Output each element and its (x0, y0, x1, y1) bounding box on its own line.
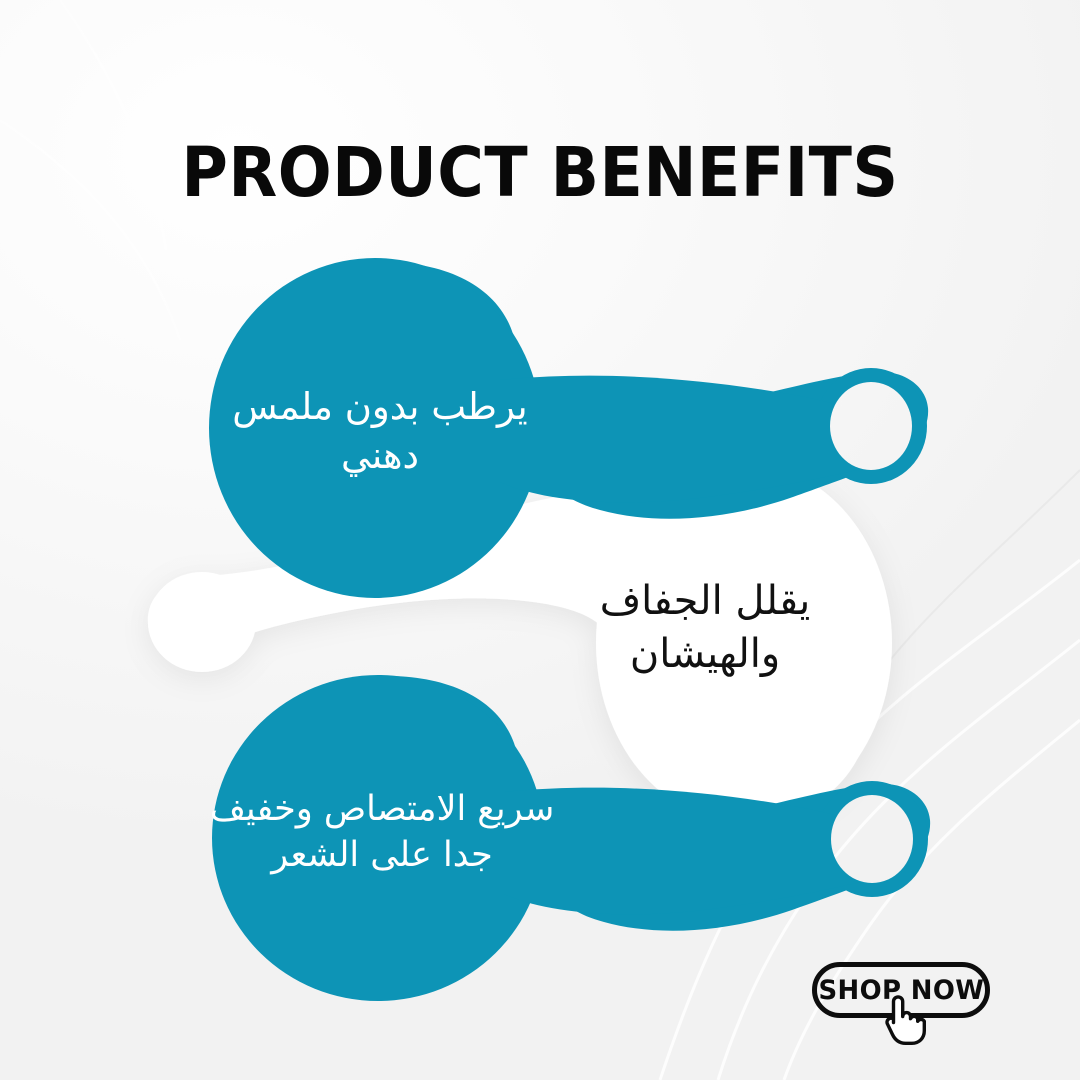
product-benefits-poster: PRODUCT BENEFITS يرطب بدون ملمس دهني يقل… (0, 0, 1080, 1080)
benefit-label-1: يرطب بدون ملمس دهني (200, 383, 560, 481)
page-title: PRODUCT BENEFITS (43, 139, 1037, 208)
benefit-label-3: سريع الامتصاص وخفيف جدا على الشعر (196, 786, 568, 878)
benefit-label-2: يقلل الجفاف والهيشان (540, 575, 870, 681)
pointing-hand-cursor-icon (880, 993, 926, 1047)
